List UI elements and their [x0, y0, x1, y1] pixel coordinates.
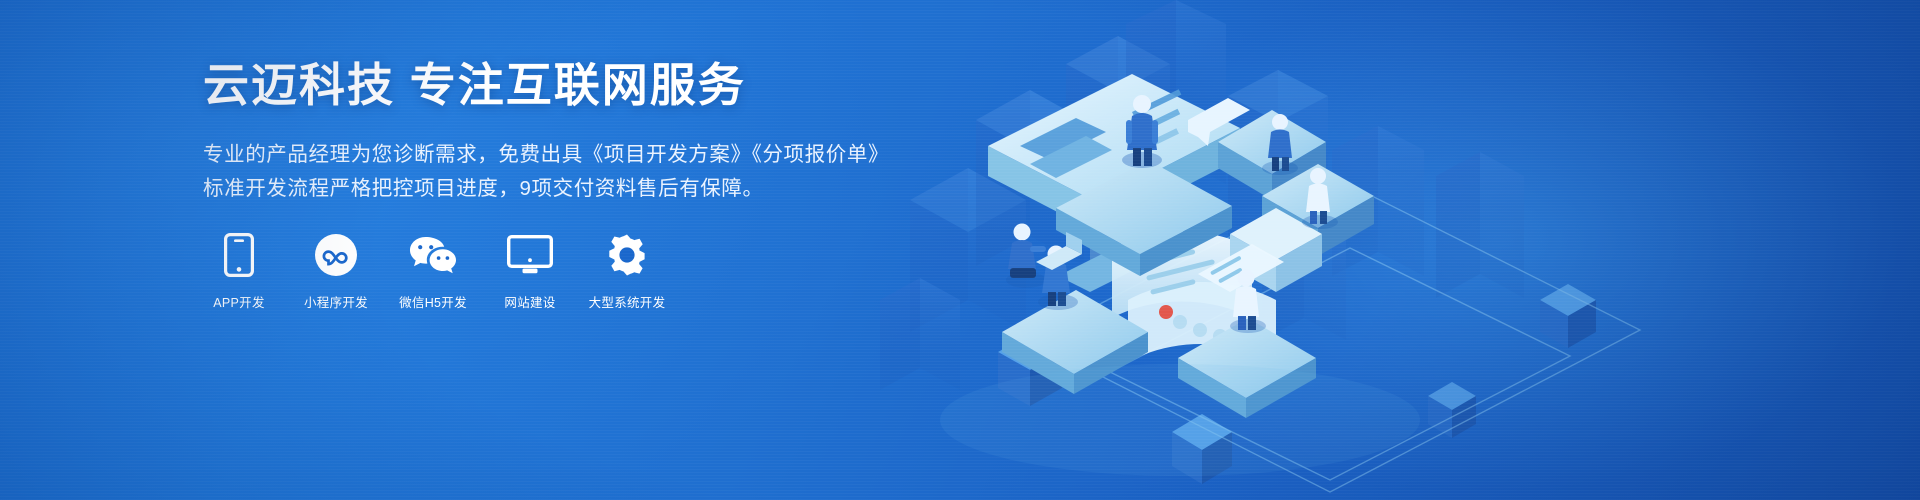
gear-icon: [605, 232, 649, 278]
page-title: 云迈科技 专注互联网服务: [203, 60, 903, 112]
wechat-icon: [407, 232, 459, 278]
mini-program-icon: [314, 232, 358, 278]
service-label: 网站建设: [504, 292, 555, 311]
mobile-phone-icon: [224, 232, 254, 278]
service-label: 小程序开发: [304, 292, 368, 311]
service-label: APP开发: [213, 292, 265, 311]
service-label: 微信H5开发: [399, 292, 467, 311]
base-glow: [940, 364, 1420, 476]
description-line-1: 专业的产品经理为您诊断需求，免费出具《项目开发方案》《分项报价单》: [203, 138, 903, 172]
service-item-app[interactable]: APP开发: [203, 232, 275, 311]
isometric-illustration: [880, 0, 1920, 500]
service-item-mini-program[interactable]: 小程序开发: [300, 232, 372, 311]
service-item-wechat-h5[interactable]: 微信H5开发: [397, 232, 469, 311]
banner-description: 专业的产品经理为您诊断需求，免费出具《项目开发方案》《分项报价单》 标准开发流程…: [203, 138, 903, 206]
banner-copy: 云迈科技 专注互联网服务 专业的产品经理为您诊断需求，免费出具《项目开发方案》《…: [203, 60, 903, 206]
illustration-canvas: [880, 0, 1920, 500]
description-line-2: 标准开发流程严格把控项目进度，9项交付资料售后有保障。: [203, 172, 903, 206]
service-item-website[interactable]: 网站建设: [494, 232, 566, 311]
promo-banner: 云迈科技 专注互联网服务 专业的产品经理为您诊断需求，免费出具《项目开发方案》《…: [0, 0, 1920, 500]
service-list: APP开发 小程序开发 微信: [203, 232, 663, 311]
service-label: 大型系统开发: [589, 292, 666, 311]
service-item-large-system[interactable]: 大型系统开发: [591, 232, 663, 311]
monitor-icon: [507, 232, 553, 278]
